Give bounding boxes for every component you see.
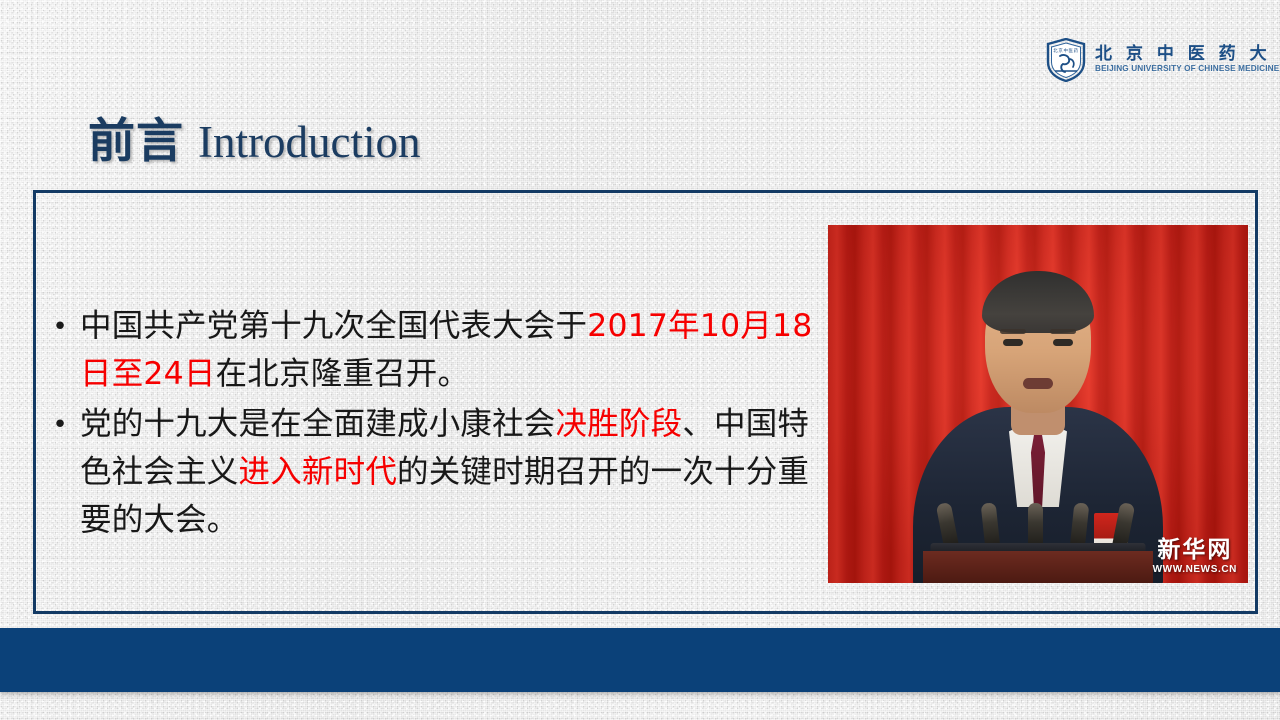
list-item: • 党的十九大是在全面建成小康社会决胜阶段、中国特色社会主义进入新时代的关键时期… [40,400,815,544]
bullet-segment-highlight: 决胜阶段 [556,406,683,442]
presentation-slide: 北京中医药 北 京 中 医 药 大 学 BEIJING UNIVERSITY O… [0,0,1280,720]
bullet-segment: 中国共产党第十九次全国代表大会于 [80,308,587,344]
page-title: 前言 Introduction [88,118,420,165]
bullet-text: 党的十九大是在全面建成小康社会决胜阶段、中国特色社会主义进入新时代的关键时期召开… [80,400,815,544]
photo-speaker-eye-left [1003,339,1023,346]
bullet-marker: • [40,302,80,351]
logo-name-en: BEIJING UNIVERSITY OF CHINESE MEDICINE [1095,65,1280,73]
logo-name-cn: 北 京 中 医 药 大 学 [1095,46,1280,63]
university-logo: 北京中医药 北 京 中 医 药 大 学 BEIJING UNIVERSITY O… [1046,36,1248,84]
bullet-segment-highlight: 进入新时代 [239,454,398,490]
bullet-list: • 中国共产党第十九次全国代表大会于2017年10月18日至24日在北京隆重召开… [40,302,815,546]
bullet-segment: 在北京隆重召开。 [216,356,470,392]
bullet-segment: 党的十九大是在全面建成小康社会 [80,406,556,442]
photo-speaker-eye-right [1053,339,1073,346]
logo-wordmark: 北 京 中 医 药 大 学 BEIJING UNIVERSITY OF CHIN… [1095,46,1280,73]
svg-text:北京中医药: 北京中医药 [1053,47,1078,54]
page-title-en: Introduction [198,120,420,165]
bullet-marker: • [40,400,80,449]
footer-accent-bar [0,628,1280,692]
watermark-text-en: WWW.NEWS.CN [1153,565,1237,575]
watermark-text-cn: 新华网 [1153,539,1237,562]
photo-watermark: 新华网 WWW.NEWS.CN [1153,539,1237,575]
bullet-text: 中国共产党第十九次全国代表大会于2017年10月18日至24日在北京隆重召开。 [80,302,815,398]
slide-photo: 新华网 WWW.NEWS.CN [828,225,1248,583]
page-title-cn: 前言 [88,118,184,165]
shield-crest-icon: 北京中医药 [1046,38,1086,82]
footer-bottom-strip [0,692,1280,720]
photo-speaker-mouth [1023,378,1053,389]
photo-podium [923,551,1153,583]
photo-speaker-brow-left [1000,329,1026,334]
photo-speaker-brow-right [1050,329,1076,334]
list-item: • 中国共产党第十九次全国代表大会于2017年10月18日至24日在北京隆重召开… [40,302,815,398]
